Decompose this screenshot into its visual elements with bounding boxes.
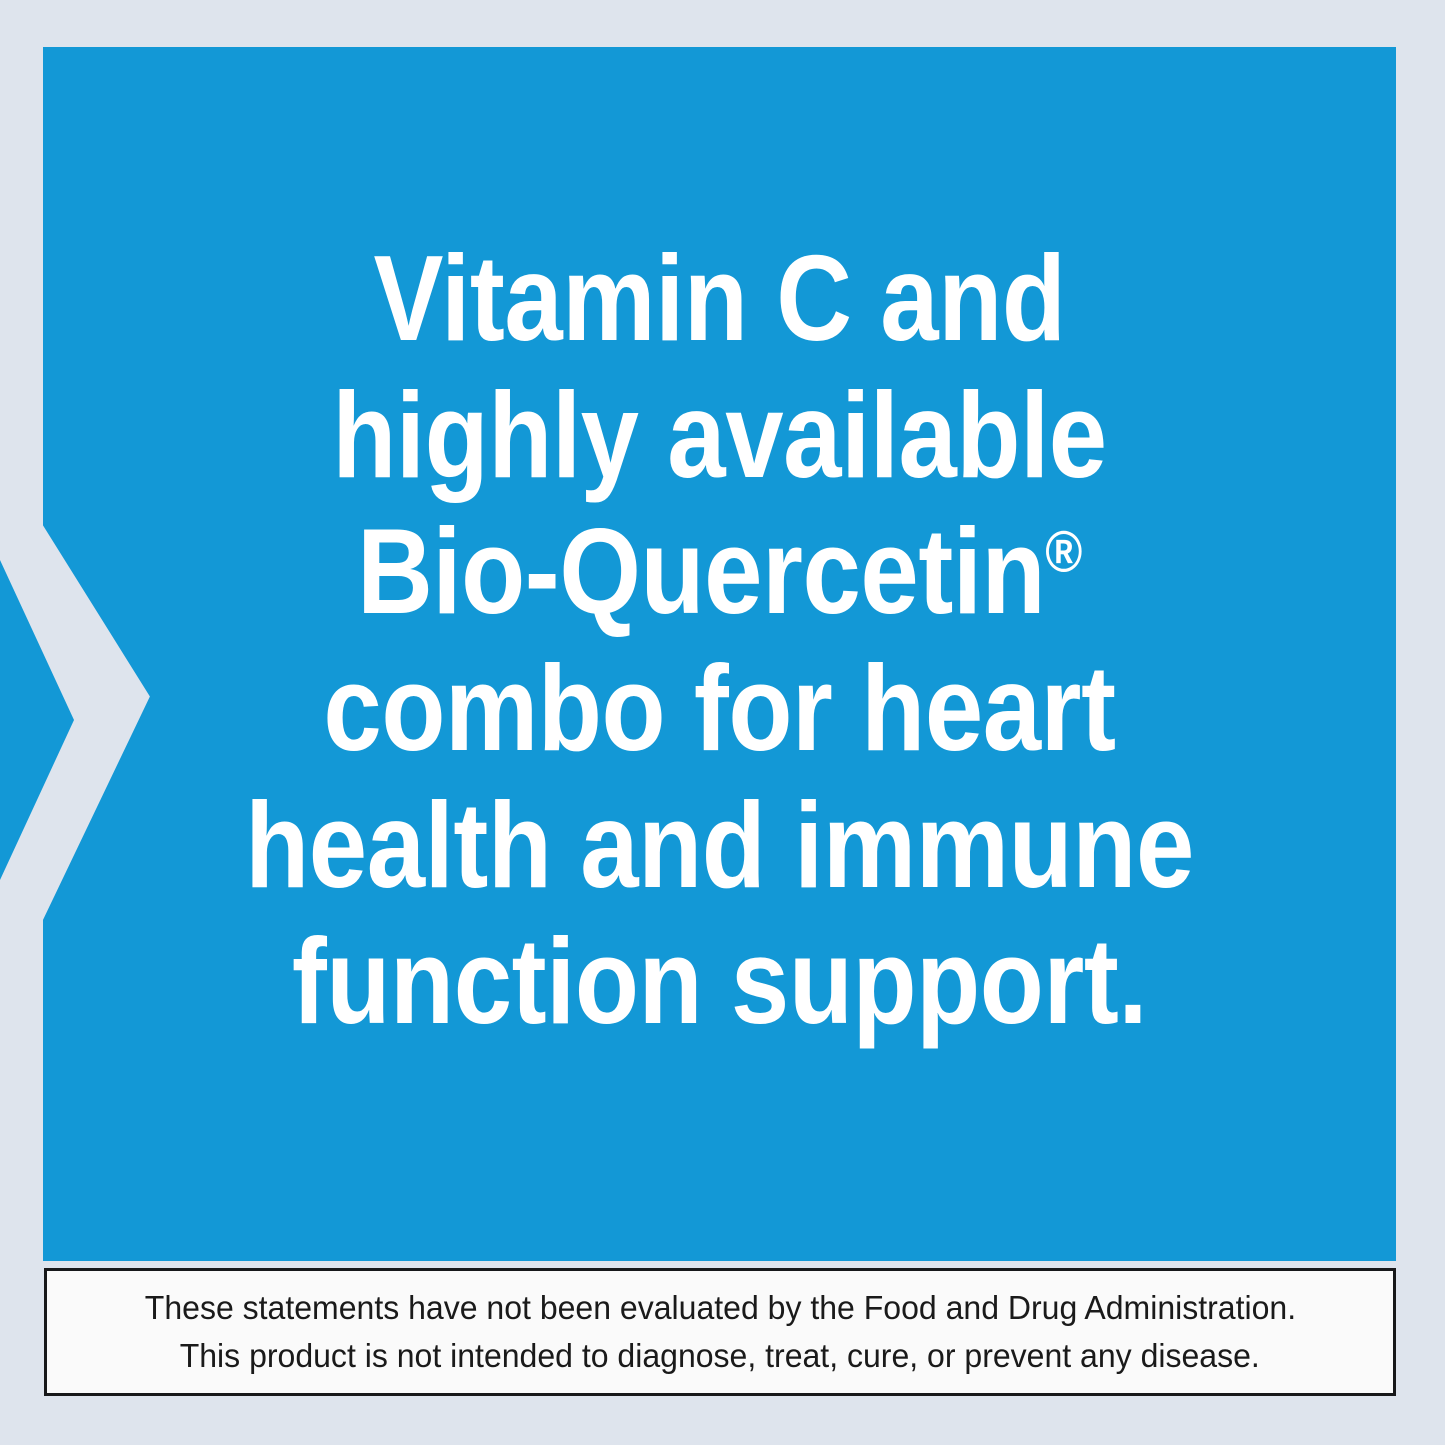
headline-line-5: health and immune bbox=[138, 777, 1302, 914]
headline-line-1: Vitamin C and bbox=[138, 230, 1302, 367]
headline-line-2: highly available bbox=[138, 367, 1302, 504]
disclaimer-line-1: These statements have not been evaluated… bbox=[144, 1284, 1295, 1332]
headline-block: Vitamin C and highly available Bio-Querc… bbox=[138, 230, 1302, 1050]
fda-disclaimer-box: These statements have not been evaluated… bbox=[44, 1268, 1396, 1396]
disclaimer-line-2: This product is not intended to diagnose… bbox=[180, 1332, 1260, 1380]
headline-brand-name: Bio-Quercetin bbox=[357, 503, 1045, 639]
headline-line-6: function support. bbox=[138, 913, 1302, 1050]
registered-trademark-icon: ® bbox=[1045, 520, 1082, 585]
headline-line-3: Bio-Quercetin® bbox=[138, 503, 1302, 640]
headline-line-4: combo for heart bbox=[138, 640, 1302, 777]
promo-card-canvas: Vitamin C and highly available Bio-Querc… bbox=[0, 0, 1445, 1445]
chevron-right-notch-icon bbox=[0, 560, 74, 880]
